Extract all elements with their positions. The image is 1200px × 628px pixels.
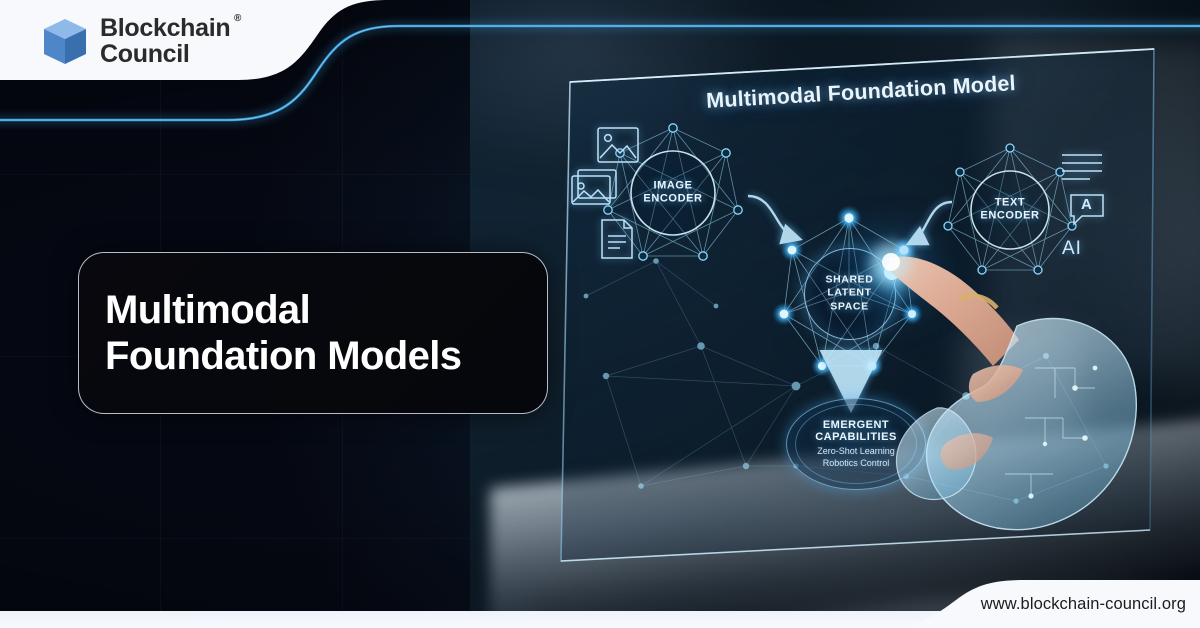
brand-text: Blockchain Council ® [100,16,230,67]
text-lines-icon [1060,152,1104,184]
cube-icon [41,17,89,67]
url-panel: www.blockchain-council.org [870,556,1200,628]
brand-logo[interactable]: Blockchain Council ® [41,16,230,67]
website-url[interactable]: www.blockchain-council.org [981,595,1186,614]
image-stack-icon [570,168,618,206]
image-frame-icon [596,126,640,164]
emergent-subtext: Zero-Shot Learning Robotics Control [817,446,895,469]
banner-canvas: Multimodal Foundation Model IMAGE ENCODE… [0,0,1200,628]
headline-card: Multimodal Foundation Models [78,252,548,414]
pointing-hand [885,248,1145,578]
image-encoder-label: IMAGE ENCODER [643,180,702,207]
document-icon [598,218,636,260]
brand-line2: Council [100,42,230,68]
text-encoder-label: TEXT ENCODER [980,197,1039,224]
shared-latent-label: SHARED LATENT SPACE [826,273,874,314]
brand-line1: Blockchain [100,16,230,42]
header-panel: Blockchain Council ® [0,0,520,120]
registered-mark: ® [234,14,241,24]
headline-line2: Foundation Models [105,333,521,379]
speech-bubble-letter: A [1081,196,1093,213]
headline-line1: Multimodal [105,287,521,333]
